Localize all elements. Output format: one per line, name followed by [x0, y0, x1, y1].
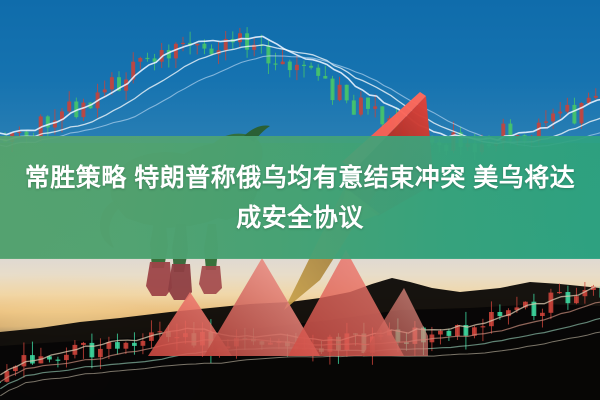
headline-line-2: 成安全协议	[236, 198, 364, 238]
cover-image: 常胜策略 特朗普称俄乌均有意结束冲突 美乌将达 成安全协议	[0, 0, 600, 400]
headline-line-1: 常胜策略 特朗普称俄乌均有意结束冲突 美乌将达	[15, 158, 585, 198]
headline-block: 常胜策略 特朗普称俄乌均有意结束冲突 美乌将达 成安全协议	[0, 136, 600, 259]
red-zigzag-peaks	[148, 244, 428, 360]
